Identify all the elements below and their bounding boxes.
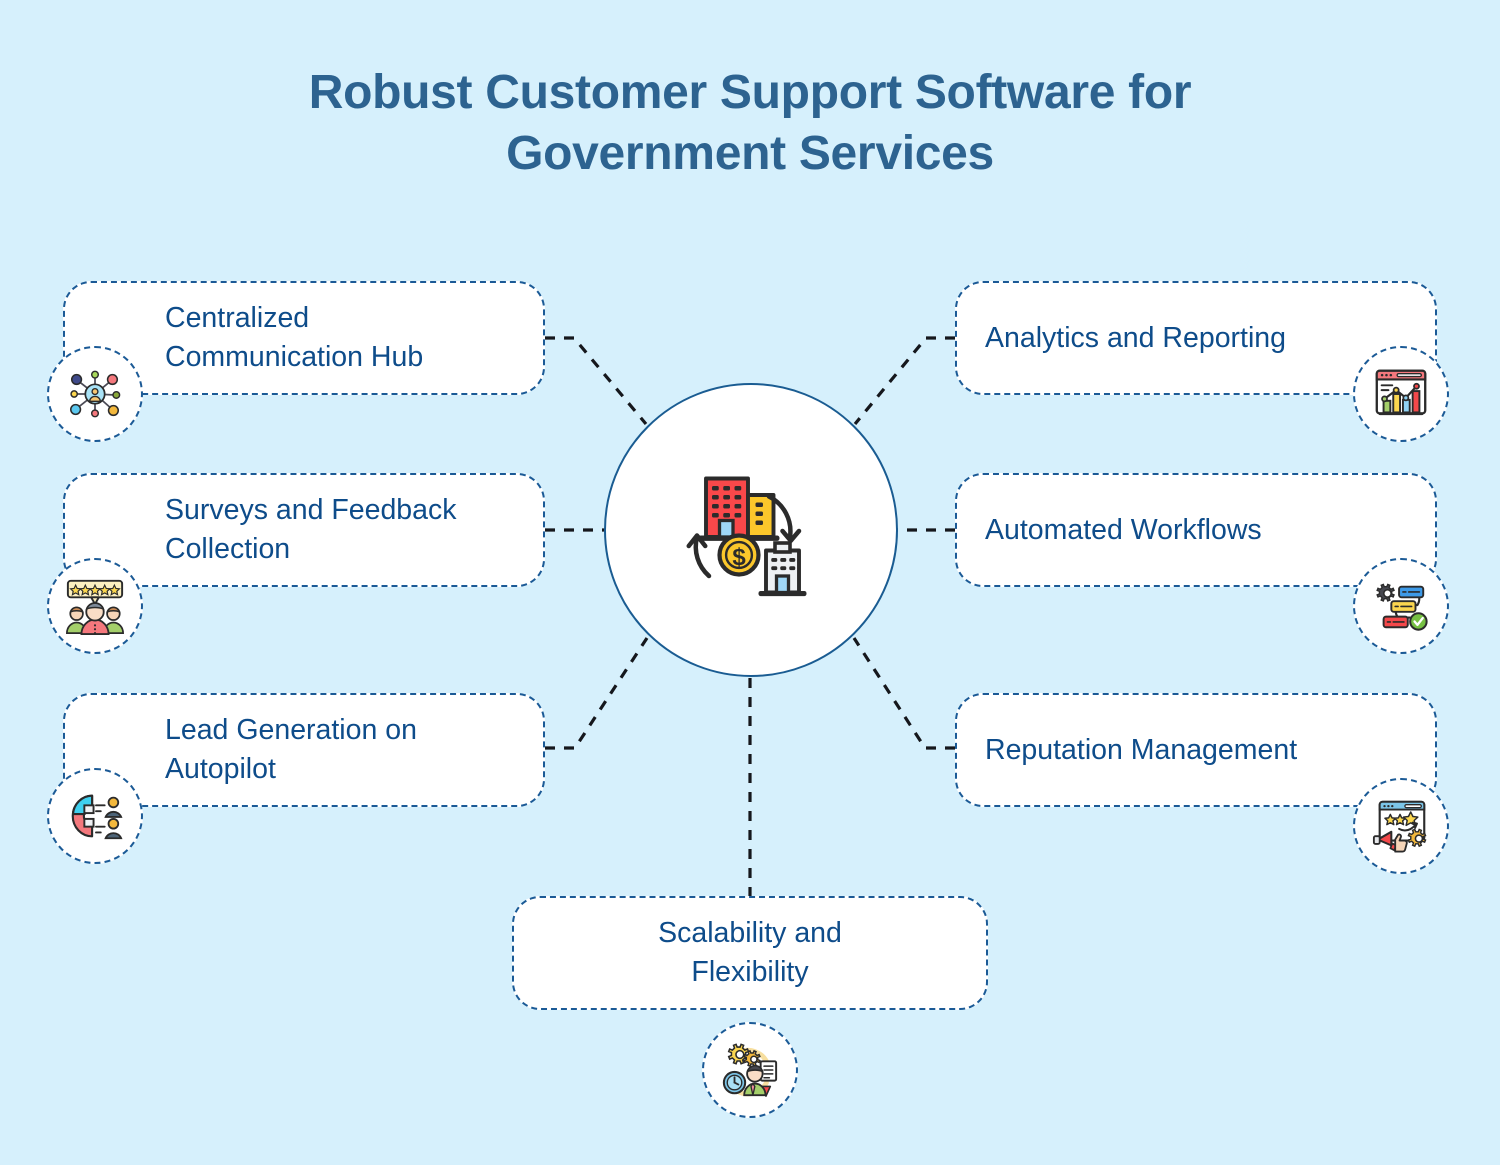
card-label-centralized-communication-hub: Centralized Communication Hub [65, 299, 543, 377]
card-line-1: Lead Generation on [165, 711, 523, 750]
infographic-canvas: Robust Customer Support Software for Gov… [0, 0, 1500, 1165]
svg-text:$: $ [732, 543, 746, 570]
card-reputation-management[interactable]: Reputation Management [955, 693, 1437, 807]
analytics-dashboard-icon [1370, 363, 1432, 425]
bubble-analytics-and-reporting[interactable] [1353, 346, 1449, 442]
card-label-reputation-management: Reputation Management [957, 731, 1435, 770]
bubble-centralized-communication-hub[interactable] [47, 346, 143, 442]
card-line-1: Centralized [165, 299, 523, 338]
bubble-automated-workflows[interactable] [1353, 558, 1449, 654]
network-hub-icon [64, 363, 126, 425]
bubble-reputation-management[interactable] [1353, 778, 1449, 874]
card-line-1: Scalability and [554, 914, 946, 953]
card-line-1: Automated Workflows [985, 511, 1405, 550]
bubble-lead-generation-on-autopilot[interactable] [47, 768, 143, 864]
card-label-scalability-and-flexibility: Scalability and Flexibility [514, 914, 986, 992]
connector-centralized-communication-hub [545, 338, 646, 424]
customer-rating-stars-icon [62, 575, 128, 637]
workflow-gear-icon [1370, 577, 1432, 635]
card-label-lead-generation-on-autopilot: Lead Generation on Autopilot [65, 711, 543, 789]
card-surveys-and-feedback-collection[interactable]: Surveys and Feedback Collection [63, 473, 545, 587]
card-line-1: Analytics and Reporting [985, 319, 1405, 358]
bubble-surveys-and-feedback-collection[interactable] [47, 558, 143, 654]
connector-reputation-management [854, 638, 955, 748]
b2b-buildings-exchange-icon: $ [676, 453, 826, 608]
connector-analytics-and-reporting [855, 338, 955, 424]
magnet-leads-icon [63, 786, 127, 846]
card-label-analytics-and-reporting: Analytics and Reporting [957, 319, 1435, 358]
card-line-2: Collection [165, 530, 523, 569]
card-line-1: Surveys and Feedback [165, 491, 523, 530]
card-line-2: Flexibility [554, 953, 946, 992]
scalability-gears-clock-icon [719, 1040, 781, 1100]
card-label-automated-workflows: Automated Workflows [957, 511, 1435, 550]
center-hub: $ [604, 383, 898, 677]
card-line-1: Reputation Management [985, 731, 1405, 770]
card-line-2: Communication Hub [165, 338, 523, 377]
card-automated-workflows[interactable]: Automated Workflows [955, 473, 1437, 587]
bubble-scalability-and-flexibility[interactable] [702, 1022, 798, 1118]
reputation-stars-megaphone-icon [1370, 795, 1432, 857]
card-scalability-and-flexibility[interactable]: Scalability and Flexibility [512, 896, 988, 1010]
connector-lead-generation-on-autopilot [545, 638, 647, 748]
card-line-2: Autopilot [165, 750, 523, 789]
card-label-surveys-and-feedback-collection: Surveys and Feedback Collection [65, 491, 543, 569]
